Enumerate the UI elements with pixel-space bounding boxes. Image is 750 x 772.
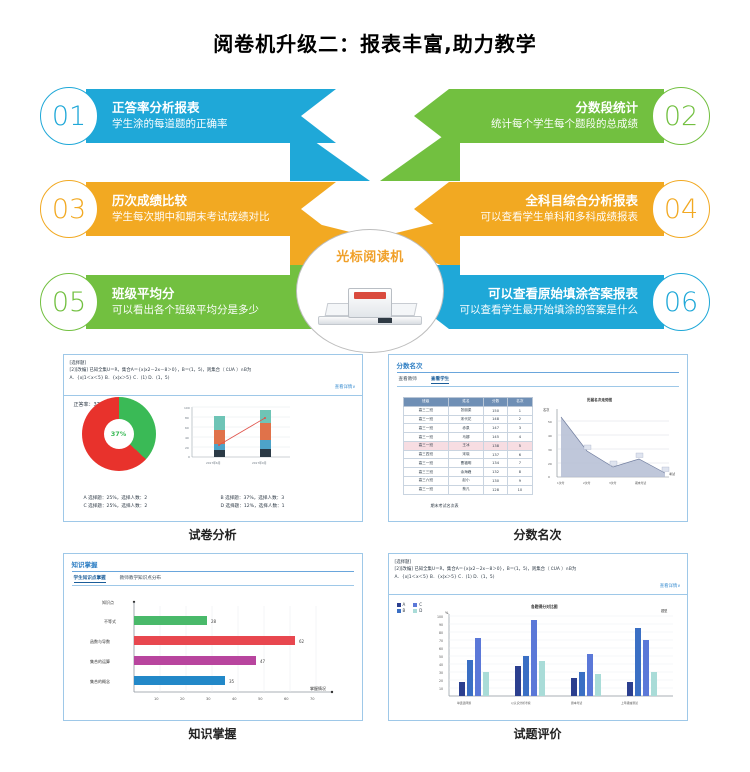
history-stacked-bar-chart: 100 80 60 40 20 0 2	[176, 403, 296, 471]
scanner-machine-icon	[318, 275, 422, 327]
table-cell: 高三一班	[403, 441, 449, 450]
feature-item-03[interactable]: 03 历次成绩比较 学生每次期中和期末考试成绩对比	[40, 174, 336, 244]
table-cell: 赵小	[449, 477, 484, 486]
svg-text:20: 20	[548, 462, 552, 466]
table-cell: 宋晓	[449, 450, 484, 459]
col-score: 分数	[483, 398, 507, 407]
col-rank: 名次	[508, 398, 532, 407]
feature-item-02[interactable]: 02 分数段统计 统计每个学生每个题段的总成绩	[414, 81, 710, 151]
eval-legend: A C B D	[397, 602, 423, 613]
tab-teacher-knowledge[interactable]: 教师教学知识点分布	[120, 575, 161, 583]
screenshot-panels: [选择题] [2][改编] 已知全集U＝R，集合A＝{x|x2－2x－8＞0}，…	[0, 354, 750, 742]
svg-text:35: 35	[229, 679, 235, 684]
table-row[interactable]: 高三六班赵小1309	[403, 477, 532, 486]
feature-number-04: 04	[652, 180, 710, 238]
panel-caption-score-rank: 分数名次	[513, 526, 561, 543]
table-cell: 赤泉	[449, 424, 484, 433]
svg-text:0: 0	[188, 455, 190, 459]
table-cell: 高三六班	[403, 477, 449, 486]
legend-a: A	[403, 602, 406, 607]
option-stat-d: D 选择题：12%，选择人数：1	[221, 503, 348, 509]
legend-b: B	[403, 608, 406, 613]
svg-text:28: 28	[211, 619, 217, 624]
feature-sub-06: 可以查看学生最开始填涂的答案是什么	[432, 303, 638, 318]
feature-item-01[interactable]: 01 正答率分析报表 学生涂的每道题的正确率	[40, 81, 336, 151]
table-cell: 张朋梁	[449, 406, 484, 415]
col-class: 班级	[403, 398, 449, 407]
table-cell: 曹福明	[449, 459, 484, 468]
svg-text:30: 30	[548, 448, 552, 452]
option-stat-a: A 选择题：25%，选择人数：2	[84, 495, 211, 501]
svg-text:集合的运算: 集合的运算	[90, 658, 110, 664]
question-eval-grouped-bar-chart: 各题得分对比图 % 1009080 706050 403020	[423, 600, 685, 716]
svg-text:100: 100	[184, 406, 190, 410]
svg-text:2次考: 2次考	[583, 481, 591, 485]
svg-text:题型: 题型	[661, 608, 668, 613]
svg-text:函数与导数: 函数与导数	[90, 638, 110, 644]
table-cell: 高三四班	[403, 450, 449, 459]
svg-text:题本考试: 题本考试	[571, 701, 582, 705]
screenshot-score-rank[interactable]: 分数名次 查看教师 查看学生 班级 姓名 分数 名次 高三二班张朋梁1501高三…	[388, 354, 688, 522]
option-stat-c: C 选择题：25%，选择人数：2	[84, 503, 211, 509]
knowledge-bar-chart: 知识点 28 不等式 62 函数与	[74, 592, 356, 714]
panel-caption-paper-analysis: 试卷分析	[188, 526, 236, 543]
table-cell: 10	[508, 485, 532, 494]
feature-diagram: 光标阅读机 01 正答率分析报表 学生涂的每道题的正确率 02 分数段统计 统计…	[0, 69, 750, 354]
table-row[interactable]: 高三一班马娜1454	[403, 433, 532, 442]
feature-item-05[interactable]: 05 班级平均分 可以看出各个班级平均分是多少	[40, 267, 336, 337]
rank-table: 班级 姓名 分数 名次 高三二班张朋梁1501高三一班宋代花1482高三一班赤泉…	[403, 397, 533, 495]
svg-text:60: 60	[185, 426, 189, 430]
question-line-1-eval: [2][改编] 已知全集U＝R，集合A＝{x|x2－2x－8＞0}，B＝(1，5…	[395, 566, 681, 573]
feature-title-05: 班级平均分	[112, 286, 318, 303]
table-cell: 145	[483, 433, 507, 442]
feature-sub-05: 可以看出各个班级平均分是多少	[112, 303, 318, 318]
question-tag-eval: [选择题]	[395, 559, 681, 566]
tab-view-student[interactable]: 查看学生	[431, 376, 449, 384]
question-line-1: [2][改编] 已知全集U＝R，集合A＝{x|x2－2x－8＞0}，B＝(1，5…	[70, 367, 356, 374]
table-cell: 132	[483, 468, 507, 477]
feature-number-01: 01	[40, 87, 98, 145]
svg-text:70: 70	[439, 639, 443, 643]
svg-text:1次考: 1次考	[557, 481, 565, 485]
panel-question-eval: [选择题] [2][改编] 已知全集U＝R，集合A＝{x|x2－2x－8＞0}，…	[385, 553, 690, 742]
feature-title-01: 正答率分析报表	[112, 100, 318, 117]
feature-ribbon-06: 可以查看原始填涂答案报表 可以查看学生最开始填涂的答案是什么	[414, 275, 664, 329]
table-row[interactable]: 高三四班宋晓1376	[403, 450, 532, 459]
feature-sub-04: 可以查看学生单科和多科成绩报表	[432, 210, 638, 225]
svg-text:60: 60	[439, 647, 443, 651]
knowledge-title: 知识掌握	[64, 554, 362, 571]
svg-text:40: 40	[232, 697, 237, 701]
chart-title-text: 历届名次走势图	[587, 397, 613, 402]
hub-label: 光标阅读机	[336, 246, 404, 265]
question-header: [选择题] [2][改编] 已知全集U＝R，集合A＝{x|x2－2x－8＞0}，…	[64, 355, 362, 396]
panel-caption-question-eval: 试题评价	[513, 725, 561, 742]
svg-text:考试: 考试	[669, 471, 675, 476]
svg-text:知识点: 知识点	[102, 599, 114, 605]
feature-item-06[interactable]: 06 可以查看原始填涂答案报表 可以查看学生最开始填涂的答案是什么	[414, 267, 710, 337]
table-row[interactable]: 高三一班王冰1385	[403, 441, 532, 450]
question-line-2-eval: A．{x|1＜x＜5} B．{x|x＞5} C．(1) D．(1，5)	[395, 574, 681, 581]
feature-number-05: 05	[40, 273, 98, 331]
table-header-row: 班级 姓名 分数 名次	[403, 398, 532, 407]
svg-text:50: 50	[258, 697, 263, 701]
tab-student-knowledge[interactable]: 学生知识点掌握	[74, 575, 106, 583]
svg-text:以认识分析考察: 以认识分析考察	[511, 701, 531, 705]
svg-text:20: 20	[439, 679, 443, 683]
col-name: 姓名	[449, 398, 484, 407]
score-rank-title: 分数名次	[389, 355, 687, 372]
page-title: 阅卷机升级二：报表丰富,助力教学	[0, 0, 750, 57]
table-row[interactable]: 高三三班余海峰1328	[403, 468, 532, 477]
table-cell: 130	[483, 477, 507, 486]
table-cell: 3	[508, 424, 532, 433]
center-hub: 光标阅读机	[296, 229, 444, 353]
svg-text:50: 50	[439, 655, 443, 659]
table-cell: 蔡凡	[449, 485, 484, 494]
table-cell: 高三三班	[403, 468, 449, 477]
svg-text:62: 62	[299, 639, 305, 644]
svg-text:集合的概念: 集合的概念	[90, 678, 110, 684]
table-cell: 137	[483, 450, 507, 459]
screenshot-paper-analysis[interactable]: [选择题] [2][改编] 已知全集U＝R，集合A＝{x|x2－2x－8＞0}，…	[63, 354, 363, 522]
table-cell: 4	[508, 433, 532, 442]
svg-text:各题得分对比图: 各题得分对比图	[530, 604, 558, 609]
svg-text:不等式: 不等式	[104, 618, 116, 624]
svg-text:10: 10	[439, 687, 443, 691]
table-cell: 宋代花	[449, 415, 484, 424]
table-cell: 高三一班	[403, 433, 449, 442]
feature-item-04[interactable]: 04 全科目综合分析报表 可以查看学生单科和多科成绩报表	[414, 174, 710, 244]
table-row[interactable]: 高三一班赤泉1473	[403, 424, 532, 433]
feature-ribbon-04: 全科目综合分析报表 可以查看学生单科和多科成绩报表	[414, 182, 664, 236]
table-cell: 7	[508, 459, 532, 468]
table-cell: 1	[508, 406, 532, 415]
feature-number-02: 02	[652, 87, 710, 145]
screenshot-knowledge[interactable]: 知识掌握 学生知识点掌握 教师教学知识点分布 知识点	[63, 553, 363, 721]
panel-paper-analysis: [选择题] [2][改编] 已知全集U＝R，集合A＝{x|x2－2x－8＞0}，…	[60, 354, 365, 543]
svg-text:90: 90	[439, 623, 443, 627]
feature-title-06: 可以查看原始填涂答案报表	[432, 286, 638, 303]
table-caption: 期末考试名次表	[431, 503, 459, 509]
option-stat-b: B 选择题：37%，选择人数：3	[221, 495, 348, 501]
table-row[interactable]: 高三一班宋代花1482	[403, 415, 532, 424]
table-cell: 高三一班	[403, 459, 449, 468]
table-cell: 高三一班	[403, 424, 449, 433]
question-line-2: A．{x|1＜x＜5} B．{x|x＞5} C．(1) D．(1，5)	[70, 375, 356, 382]
tab-view-teacher[interactable]: 查看教师	[399, 376, 417, 384]
svg-text:40: 40	[548, 434, 552, 438]
svg-text:47: 47	[260, 659, 266, 664]
question-tag: [选择题]	[70, 360, 356, 367]
feature-number-03: 03	[40, 180, 98, 238]
table-row[interactable]: 高三一班蔡凡12810	[403, 485, 532, 494]
table-cell: 8	[508, 468, 532, 477]
view-detail-link[interactable]: 查看详情∨	[70, 384, 356, 391]
svg-text:期末考试: 期末考试	[635, 481, 646, 485]
svg-text:3次考: 3次考	[609, 481, 617, 485]
svg-text:80: 80	[185, 416, 189, 420]
screenshot-question-eval[interactable]: [选择题] [2][改编] 已知全集U＝R，集合A＝{x|x2－2x－8＞0}，…	[388, 553, 688, 721]
table-cell: 高三一班	[403, 485, 449, 494]
svg-text:掌握情况: 掌握情况	[310, 685, 326, 691]
feature-title-02: 分数段统计	[432, 100, 638, 117]
table-cell: 147	[483, 424, 507, 433]
svg-text:上年级抽测试: 上年级抽测试	[621, 701, 638, 705]
feature-number-06: 06	[652, 273, 710, 331]
panel-score-rank: 分数名次 查看教师 查看学生 班级 姓名 分数 名次 高三二班张朋梁1501高三…	[385, 354, 690, 543]
table-cell: 128	[483, 485, 507, 494]
table-cell: 5	[508, 441, 532, 450]
svg-text:70: 70	[310, 697, 315, 701]
feature-title-04: 全科目综合分析报表	[432, 193, 638, 210]
svg-text:30: 30	[206, 697, 211, 701]
feature-ribbon-01: 正答率分析报表 学生涂的每道题的正确率	[86, 89, 336, 143]
view-detail-link-eval[interactable]: 查看详情∨	[395, 583, 681, 590]
table-cell: 马娜	[449, 433, 484, 442]
svg-text:60: 60	[284, 697, 289, 701]
table-row[interactable]: 高三一班曹福明1347	[403, 459, 532, 468]
svg-text:100: 100	[437, 615, 443, 619]
table-cell: 138	[483, 441, 507, 450]
svg-text:40: 40	[439, 663, 443, 667]
feature-sub-02: 统计每个学生每个题段的总成绩	[432, 117, 638, 132]
feature-ribbon-02: 分数段统计 统计每个学生每个题段的总成绩	[414, 89, 664, 143]
svg-text:名次: 名次	[543, 407, 550, 412]
svg-text:10: 10	[154, 697, 159, 701]
feature-ribbon-03: 历次成绩比较 学生每次期中和期末考试成绩对比	[86, 182, 336, 236]
feature-title-03: 历次成绩比较	[112, 193, 318, 210]
table-cell: 134	[483, 459, 507, 468]
question-header-eval: [选择题] [2][改编] 已知全集U＝R，集合A＝{x|x2－2x－8＞0}，…	[389, 554, 687, 595]
feature-sub-01: 学生涂的每道题的正确率	[112, 117, 318, 132]
table-cell: 6	[508, 450, 532, 459]
rank-trend-area-chart: 历届名次走势图 名次 50 40 30 20 0	[541, 395, 681, 505]
svg-text:%: %	[445, 611, 449, 615]
table-cell: 2	[508, 415, 532, 424]
table-cell: 余海峰	[449, 468, 484, 477]
table-cell: 高三二班	[403, 406, 449, 415]
feature-sub-03: 学生每次期中和期末考试成绩对比	[112, 210, 318, 225]
correct-rate-donut-chart: 37%	[82, 397, 156, 471]
table-cell: 150	[483, 406, 507, 415]
svg-text:20: 20	[185, 446, 189, 450]
table-cell: 高三一班	[403, 415, 449, 424]
donut-center-label: 37%	[111, 430, 127, 438]
panel-caption-knowledge: 知识掌握	[188, 725, 236, 742]
svg-text:20: 20	[180, 697, 185, 701]
table-cell: 王冰	[449, 441, 484, 450]
panel-knowledge: 知识掌握 学生知识点掌握 教师教学知识点分布 知识点	[60, 553, 365, 742]
svg-text:2017年6月: 2017年6月	[206, 461, 221, 465]
svg-text:40: 40	[185, 436, 189, 440]
table-cell: 148	[483, 415, 507, 424]
table-cell: 9	[508, 477, 532, 486]
svg-text:80: 80	[439, 631, 443, 635]
svg-text:30: 30	[439, 671, 443, 675]
svg-text:单选选择题: 单选选择题	[457, 701, 471, 705]
svg-text:0: 0	[548, 475, 550, 479]
svg-text:2017年9月: 2017年9月	[252, 461, 267, 465]
svg-text:50: 50	[548, 420, 552, 424]
table-row[interactable]: 高三二班张朋梁1501	[403, 406, 532, 415]
